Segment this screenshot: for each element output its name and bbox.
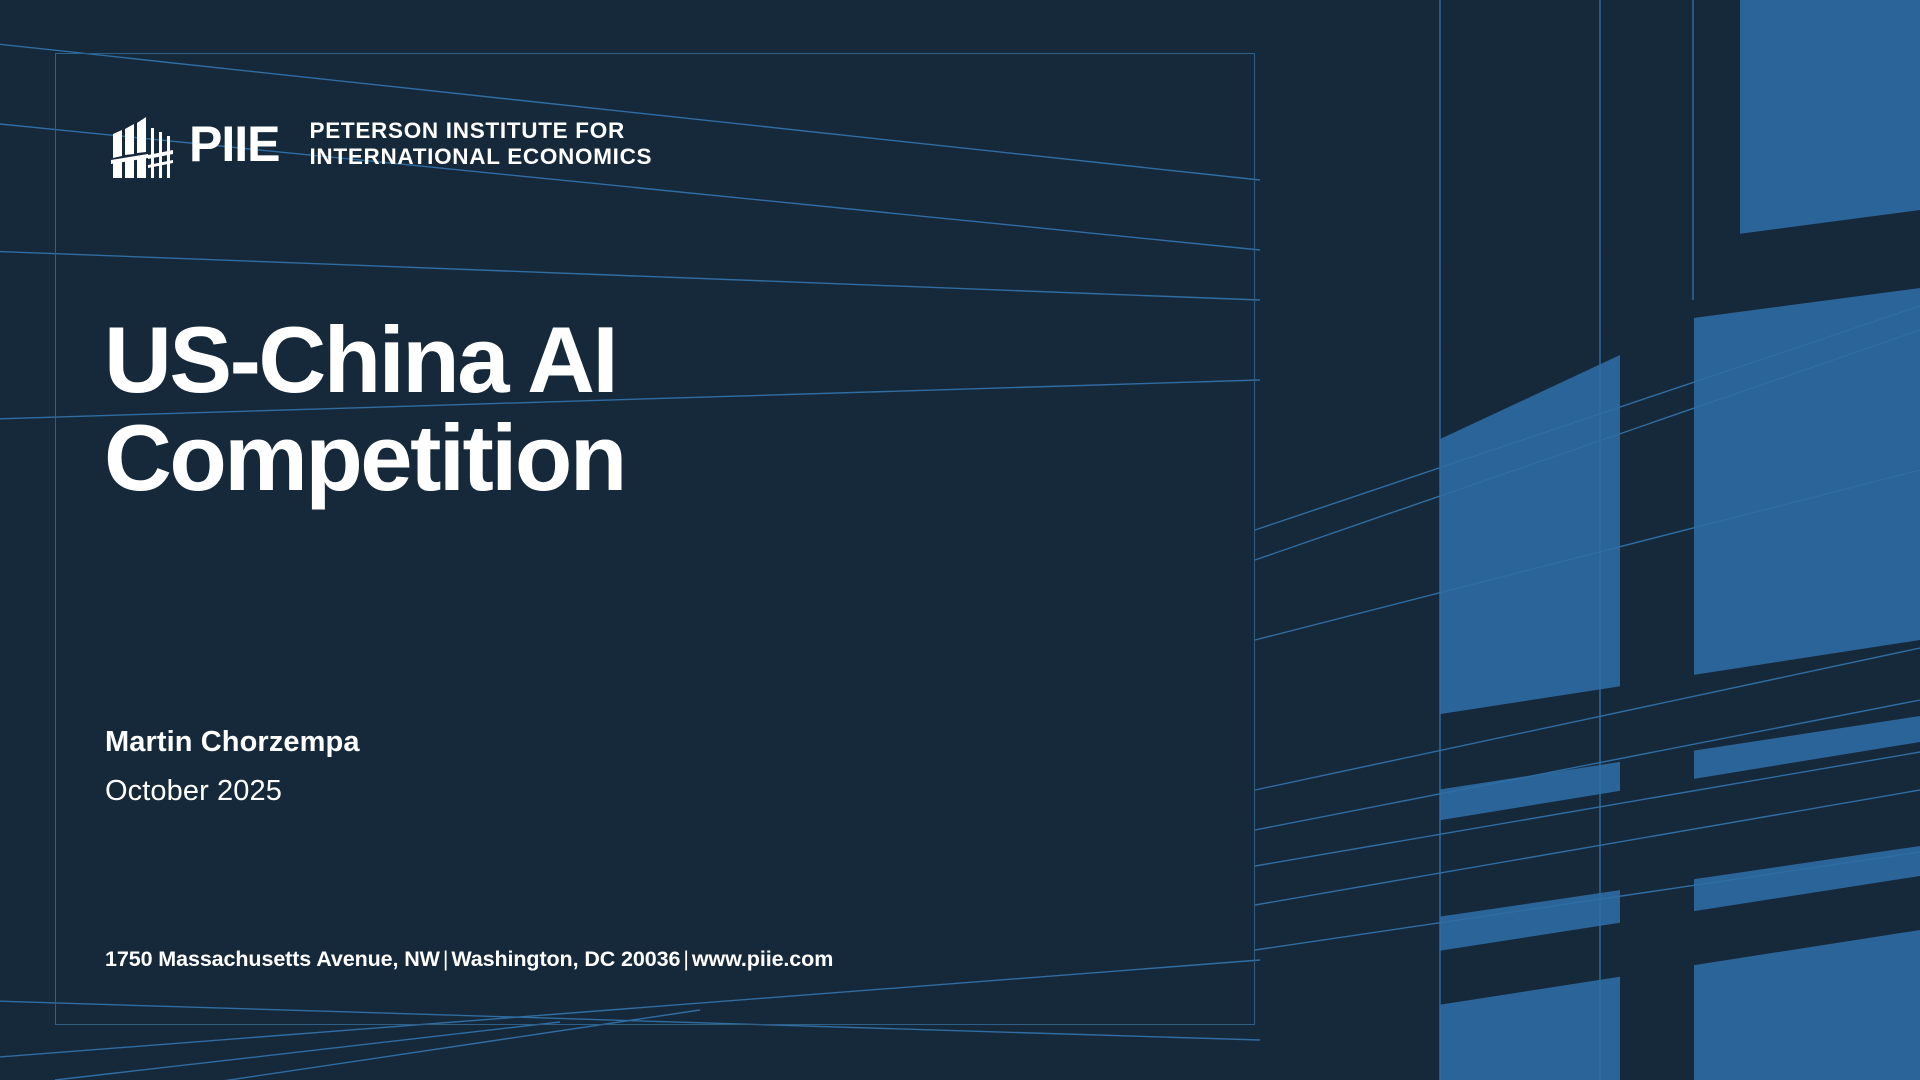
slide-title: US-China AI Competition: [104, 311, 864, 507]
facade-mullions: [1240, 210, 1920, 1080]
presentation-date: October 2025: [105, 772, 360, 811]
org-name-line-2: INTERNATIONAL ECONOMICS: [309, 144, 652, 170]
footer-separator-1: |: [440, 947, 452, 971]
footer-contact-line: 1750 Massachusetts Avenue, NW|Washington…: [105, 947, 833, 972]
facade-verticals: [1424, 0, 1694, 1080]
footer-address: 1750 Massachusetts Avenue, NW: [105, 947, 440, 971]
footer-website[interactable]: www.piie.com: [692, 947, 833, 971]
org-name-line-1: PETERSON INSTITUTE FOR: [309, 118, 652, 144]
piie-logo[interactable]: PIIE PETERSON INSTITUTE FOR INTERNATIONA…: [105, 108, 652, 180]
facade-cross-bands: [1380, 742, 1920, 1014]
byline-block: Martin Chorzempa October 2025: [105, 723, 360, 811]
title-slide: PIIE PETERSON INSTITUTE FOR INTERNATIONA…: [0, 0, 1920, 1080]
content-frame-border: [55, 53, 1255, 1025]
piie-building-mark-icon: [105, 108, 173, 180]
footer-separator-2: |: [680, 947, 692, 971]
slide-title-line-2: Competition: [104, 409, 864, 507]
footer-city: Washington, DC 20036: [451, 947, 680, 971]
slide-title-line-1: US-China AI: [104, 311, 864, 409]
author-name: Martin Chorzempa: [105, 723, 360, 762]
piie-org-name: PETERSON INSTITUTE FOR INTERNATIONAL ECO…: [309, 118, 652, 170]
piie-wordmark: PIIE: [189, 119, 279, 169]
facade-panels: [1438, 0, 1920, 1080]
